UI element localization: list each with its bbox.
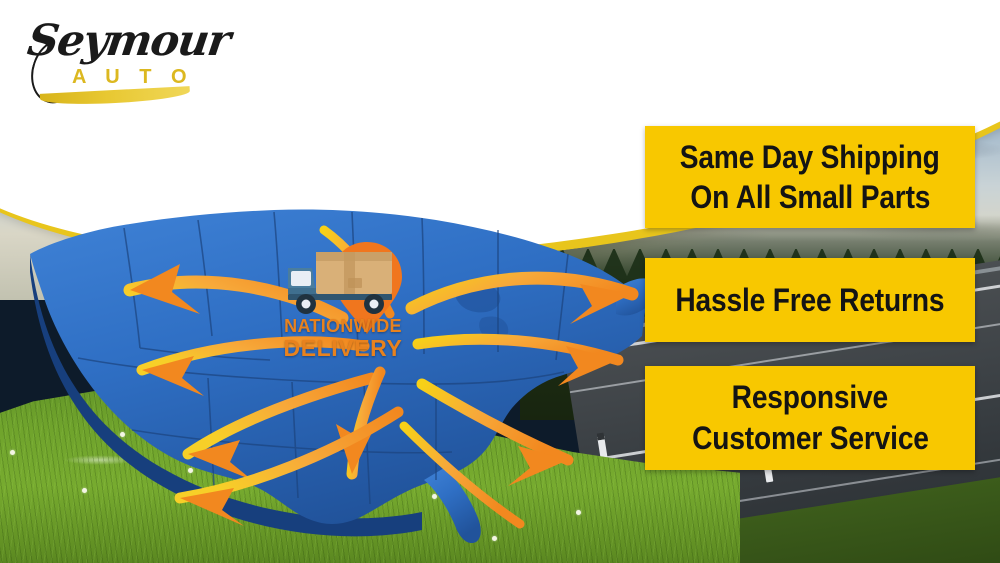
logo-wordmark: Seymour	[24, 16, 232, 66]
callout-line-1: NATIONWIDE	[268, 316, 418, 336]
feature-line: On All Small Parts	[690, 177, 930, 217]
feature-box-hassle-free-returns[interactable]: Hassle Free Returns	[645, 258, 975, 342]
delivery-truck-icon	[282, 248, 402, 320]
map-florida	[424, 468, 481, 543]
nationwide-delivery-text: NATIONWIDE DELIVERY	[268, 316, 418, 361]
brand-logo[interactable]: Seymour A U T O	[22, 14, 202, 106]
feature-line: Same Day Shipping	[680, 137, 940, 177]
promo-banner: Seymour A U T O	[0, 0, 1000, 563]
feature-box-responsive-customer-service[interactable]: Responsive Customer Service	[645, 366, 975, 470]
logo-subtitle: A U T O	[72, 66, 194, 89]
feature-line: Responsive	[732, 377, 888, 418]
callout-line-2: DELIVERY	[268, 336, 418, 361]
nationwide-delivery-callout: NATIONWIDE DELIVERY	[268, 240, 418, 370]
feature-line: Customer Service	[692, 418, 929, 459]
feature-line: Hassle Free Returns	[675, 280, 944, 320]
feature-box-same-day-shipping[interactable]: Same Day Shipping On All Small Parts	[645, 126, 975, 228]
